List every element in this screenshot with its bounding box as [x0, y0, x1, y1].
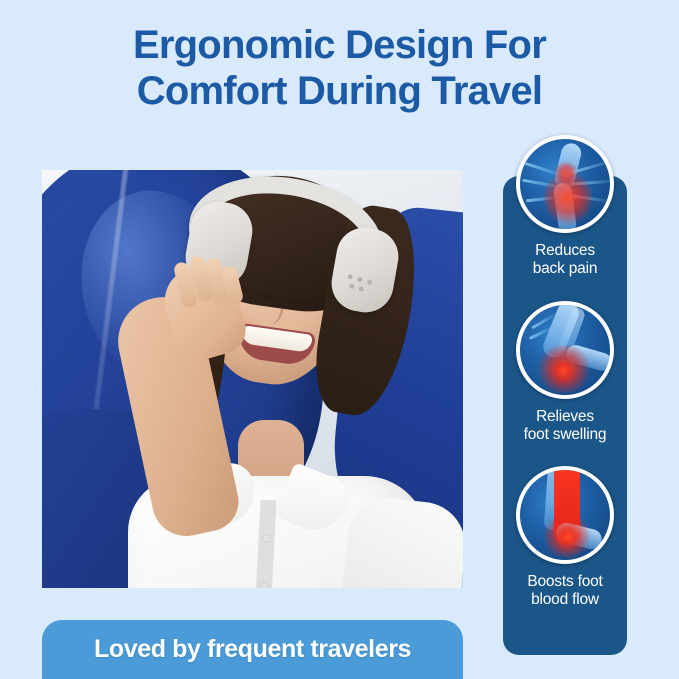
- benefit-item-relieves-foot-swelling: Relieves foot swelling: [503, 301, 627, 445]
- benefit-label: Relieves foot swelling: [524, 408, 607, 445]
- shirt-button: [260, 582, 269, 588]
- blood-flow-core: [554, 526, 582, 548]
- ankle-swelling-icon: [516, 301, 614, 399]
- benefits-panel: Reduces back pain Relieves foot swelling: [503, 176, 627, 655]
- traveler-figure: [42, 170, 463, 588]
- pain-spark: [554, 161, 578, 185]
- shirt-button: [262, 534, 271, 543]
- benefit-item-reduces-back-pain: Reduces back pain: [503, 135, 627, 279]
- hero-photo-illustration: [42, 170, 463, 588]
- benefit-label: Boosts foot blood flow: [527, 573, 602, 610]
- leg-blood-flow-icon: [516, 466, 614, 564]
- benefit-item-boosts-blood-flow: Boosts foot blood flow: [503, 466, 627, 610]
- page-title: Ergonomic Design For Comfort During Trav…: [0, 22, 679, 114]
- spine-graphic: [520, 139, 610, 229]
- loved-by-travelers-banner: Loved by frequent travelers: [42, 620, 463, 679]
- benefit-label: Reduces back pain: [533, 242, 598, 279]
- spine-back-pain-icon: [516, 135, 614, 233]
- page-title-line-1: Ergonomic Design For: [0, 22, 679, 68]
- page-title-line-2: Comfort During Travel: [0, 68, 679, 114]
- hero-photo: [42, 170, 463, 588]
- ankle-graphic: [520, 305, 610, 395]
- banner-label: Loved by frequent travelers: [94, 635, 411, 664]
- swelling-core: [550, 359, 576, 383]
- leg-graphic: [520, 470, 610, 560]
